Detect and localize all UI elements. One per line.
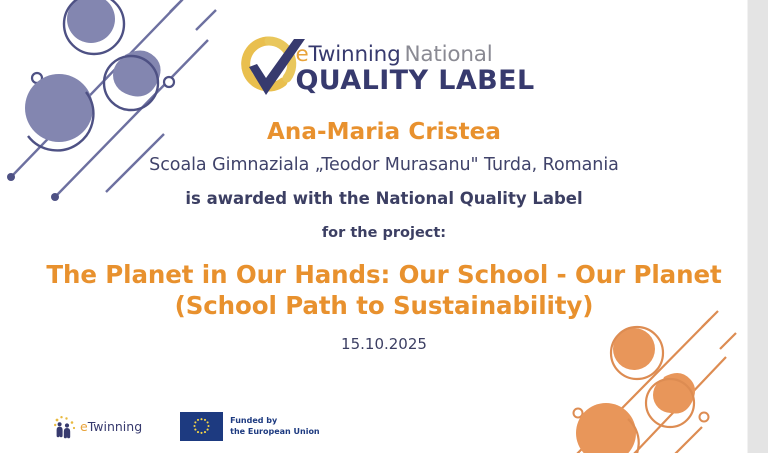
etwinning-quality-label-logo: eTwinningNational QUALITY LABEL: [0, 32, 768, 104]
recipient-name: Ana-Maria Cristea: [28, 118, 740, 146]
etwinning-footer-logo: eTwinning: [52, 414, 142, 440]
award-date: 15.10.2025: [28, 334, 740, 354]
etwinning-footer-e: e: [80, 419, 88, 434]
award-statement: is awarded with the National Quality Lab…: [28, 186, 740, 212]
etwinning-logo-icon: [52, 414, 78, 440]
etwinning-footer-wordmark: eTwinning: [80, 419, 142, 434]
project-title-line-2: (School Path to Sustainability): [28, 290, 740, 321]
eu-funding-logo: Funded by the European Union: [180, 412, 320, 441]
for-the-project-label: for the project:: [28, 221, 740, 245]
logo-e-letter: e: [295, 42, 308, 67]
eu-funded-text: Funded by the European Union: [230, 416, 320, 437]
logo-wordmark: eTwinningNational QUALITY LABEL: [295, 41, 534, 95]
footer-logos: eTwinning: [52, 412, 320, 441]
etwinning-footer-rest: Twinning: [88, 419, 142, 434]
eu-funded-line-1: Funded by: [230, 416, 320, 427]
page-edge-strip: [747, 0, 768, 453]
project-title: The Planet in Our Hands: Our School - Ou…: [28, 259, 740, 321]
logo-quality-label-text: QUALITY LABEL: [295, 66, 534, 95]
school-name: Scoala Gimnaziala „Teodor Murasanu" Turd…: [28, 152, 740, 178]
certificate-body: Ana-Maria Cristea Scoala Gimnaziala „Teo…: [28, 118, 740, 354]
logo-twinning-text: Twinning: [308, 42, 400, 67]
eu-funded-line-2: the European Union: [230, 427, 320, 438]
eu-flag-icon: [180, 412, 223, 441]
certificate-page: eTwinningNational QUALITY LABEL Ana-Mari…: [0, 0, 768, 453]
logo-national-text: National: [401, 42, 493, 67]
project-title-line-1: The Planet in Our Hands: Our School - Ou…: [28, 259, 740, 290]
